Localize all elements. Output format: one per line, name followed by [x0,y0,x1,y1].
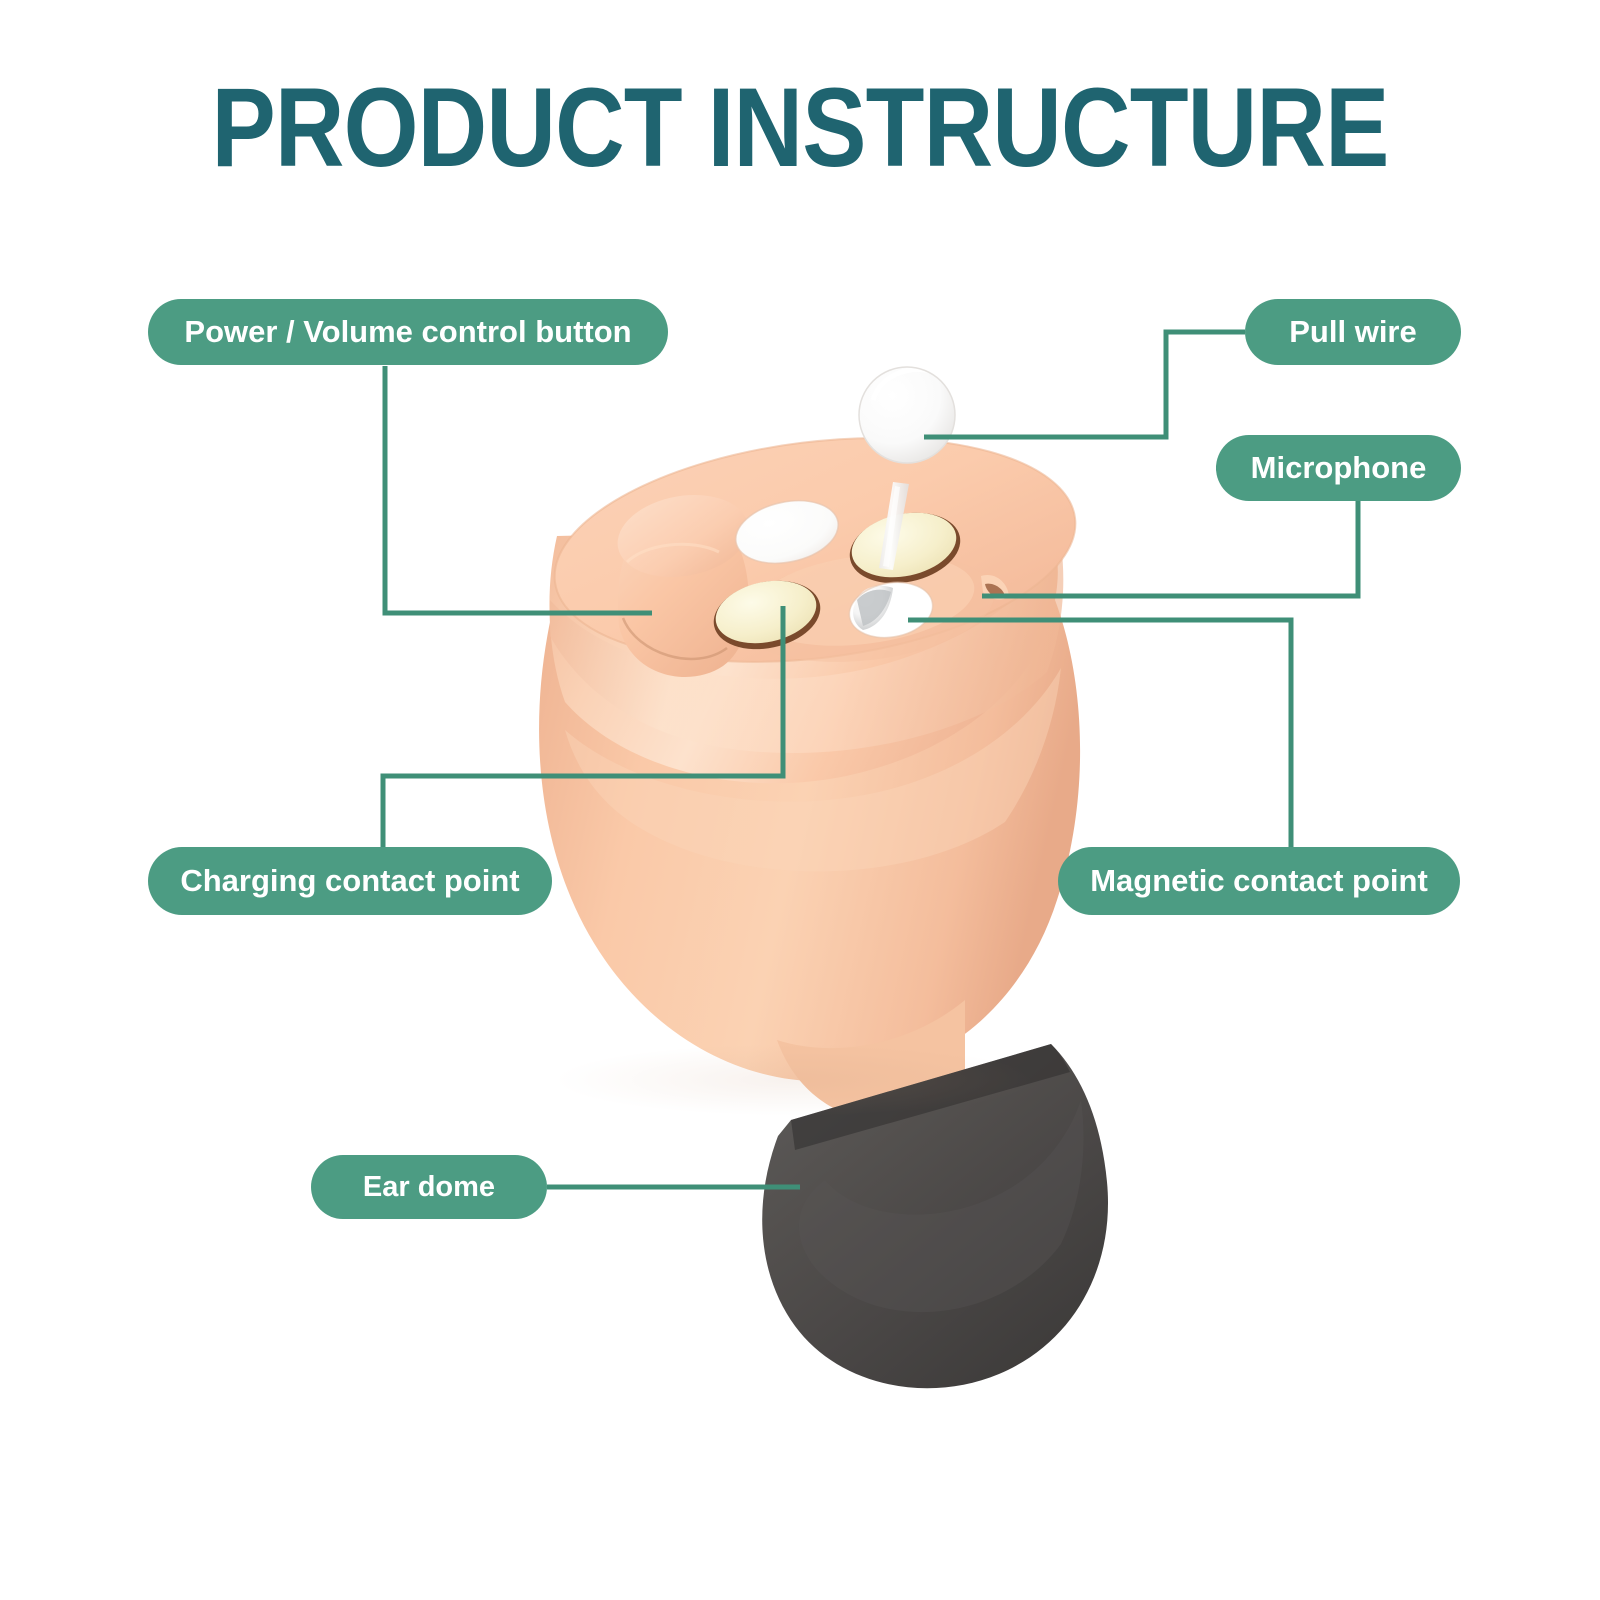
label-power-volume-control-button[interactable]: Power / Volume control button [148,299,668,365]
label-text: Ear dome [363,1171,495,1204]
connector-magnetic [908,620,1291,847]
microphone-port [981,575,1009,600]
ear-dome-part [762,1044,1108,1388]
page-title: PRODUCT INSTRUCTURE [112,72,1488,184]
power-volume-control-button-part [611,485,755,677]
connector-pull-wire [924,332,1245,437]
magnetic-contact-hole [845,576,937,644]
connector-charging [383,606,783,847]
label-text: Pull wire [1289,314,1416,350]
charging-contact-pad [707,571,826,658]
secondary-contact-pad [843,503,967,593]
label-text: Power / Volume control button [184,314,631,350]
label-text: Magnetic contact point [1090,863,1428,899]
label-microphone[interactable]: Microphone [1216,435,1461,501]
product-instruction-diagram: PRODUCT INSTRUCTURE [0,0,1600,1600]
device-shell [539,411,1088,1082]
label-text: Microphone [1251,450,1427,486]
vent-hole [730,492,844,572]
pull-wire [859,367,955,570]
label-pull-wire[interactable]: Pull wire [1245,299,1461,365]
receiver-stalk [777,1000,965,1122]
label-ear-dome[interactable]: Ear dome [311,1155,547,1219]
label-text: Charging contact point [180,863,519,899]
callout-connectors [0,0,1600,1600]
connector-power [385,366,652,613]
label-magnetic-contact-point[interactable]: Magnetic contact point [1058,847,1460,915]
label-charging-contact-point[interactable]: Charging contact point [148,847,552,915]
